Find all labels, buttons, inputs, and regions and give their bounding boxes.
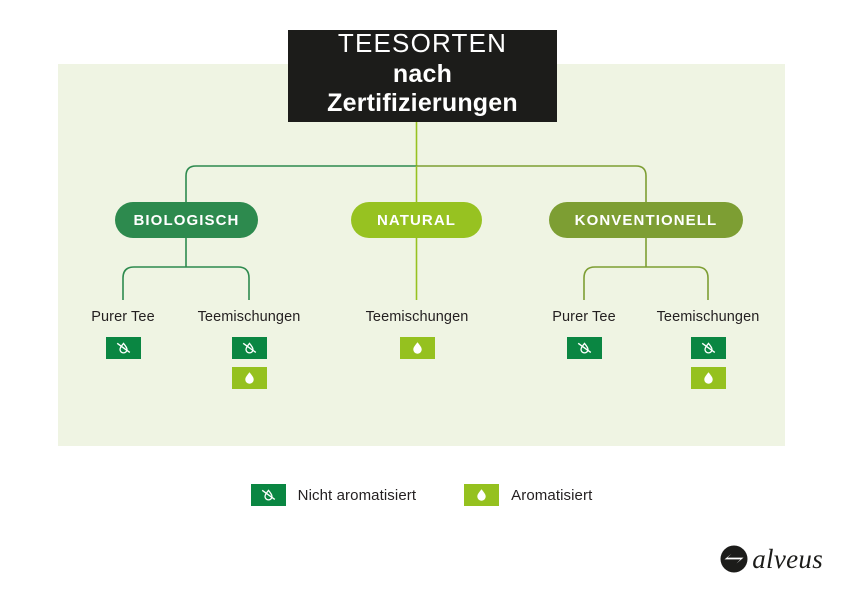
leaf-biologisch-teemischungen: Teemischungen — [183, 310, 315, 389]
title-line-secondary: nach Zertifizierungen — [298, 60, 547, 119]
brand-logo: alveus — [719, 544, 823, 574]
leaf-label: Teemischungen — [366, 310, 469, 325]
page-title: TEESORTEN nach Zertifizierungen — [288, 30, 557, 122]
leaf-label: Teemischungen — [657, 310, 760, 325]
droplet-icon — [232, 367, 267, 389]
badge-group — [106, 337, 141, 359]
title-line-primary: TEESORTEN — [338, 29, 507, 58]
legend-label: Nicht aromatisiert — [298, 487, 417, 504]
leaf-label: Purer Tee — [91, 310, 155, 325]
legend-label: Aromatisiert — [511, 487, 592, 504]
alveus-swoosh-icon — [719, 544, 749, 574]
category-pill-konventionell-label: KONVENTIONELL — [575, 212, 718, 229]
category-pill-biologisch[interactable]: BIOLOGISCH — [115, 202, 258, 238]
droplet-crossed-icon — [567, 337, 602, 359]
droplet-crossed-icon — [106, 337, 141, 359]
category-pill-natural[interactable]: NATURAL — [351, 202, 482, 238]
leaf-natural-teemischungen: Teemischungen — [351, 310, 483, 359]
badge-group — [400, 337, 435, 359]
brand-name: alveus — [752, 546, 823, 573]
droplet-crossed-icon — [251, 484, 286, 506]
leaf-biologisch-purer-tee: Purer Tee — [63, 310, 183, 359]
droplet-icon — [400, 337, 435, 359]
infographic-root: TEESORTEN nach Zertifizierungen BIOLOGIS… — [0, 0, 843, 596]
leaf-konventionell-teemischungen: Teemischungen — [642, 310, 774, 389]
category-pill-natural-label: NATURAL — [377, 212, 456, 229]
legend-item-aromatisiert: Aromatisiert — [464, 484, 592, 506]
leaf-label: Teemischungen — [198, 310, 301, 325]
badge-group — [567, 337, 602, 359]
legend: Nicht aromatisiert Aromatisiert — [0, 484, 843, 506]
badge-group — [691, 337, 726, 389]
droplet-crossed-icon — [691, 337, 726, 359]
category-pill-konventionell[interactable]: KONVENTIONELL — [549, 202, 743, 238]
category-pill-biologisch-label: BIOLOGISCH — [133, 212, 239, 229]
droplet-crossed-icon — [232, 337, 267, 359]
badge-group — [232, 337, 267, 389]
leaf-label: Purer Tee — [552, 310, 616, 325]
droplet-icon — [691, 367, 726, 389]
droplet-icon — [464, 484, 499, 506]
leaf-konventionell-purer-tee: Purer Tee — [524, 310, 644, 359]
legend-item-nicht-aromatisiert: Nicht aromatisiert — [251, 484, 417, 506]
